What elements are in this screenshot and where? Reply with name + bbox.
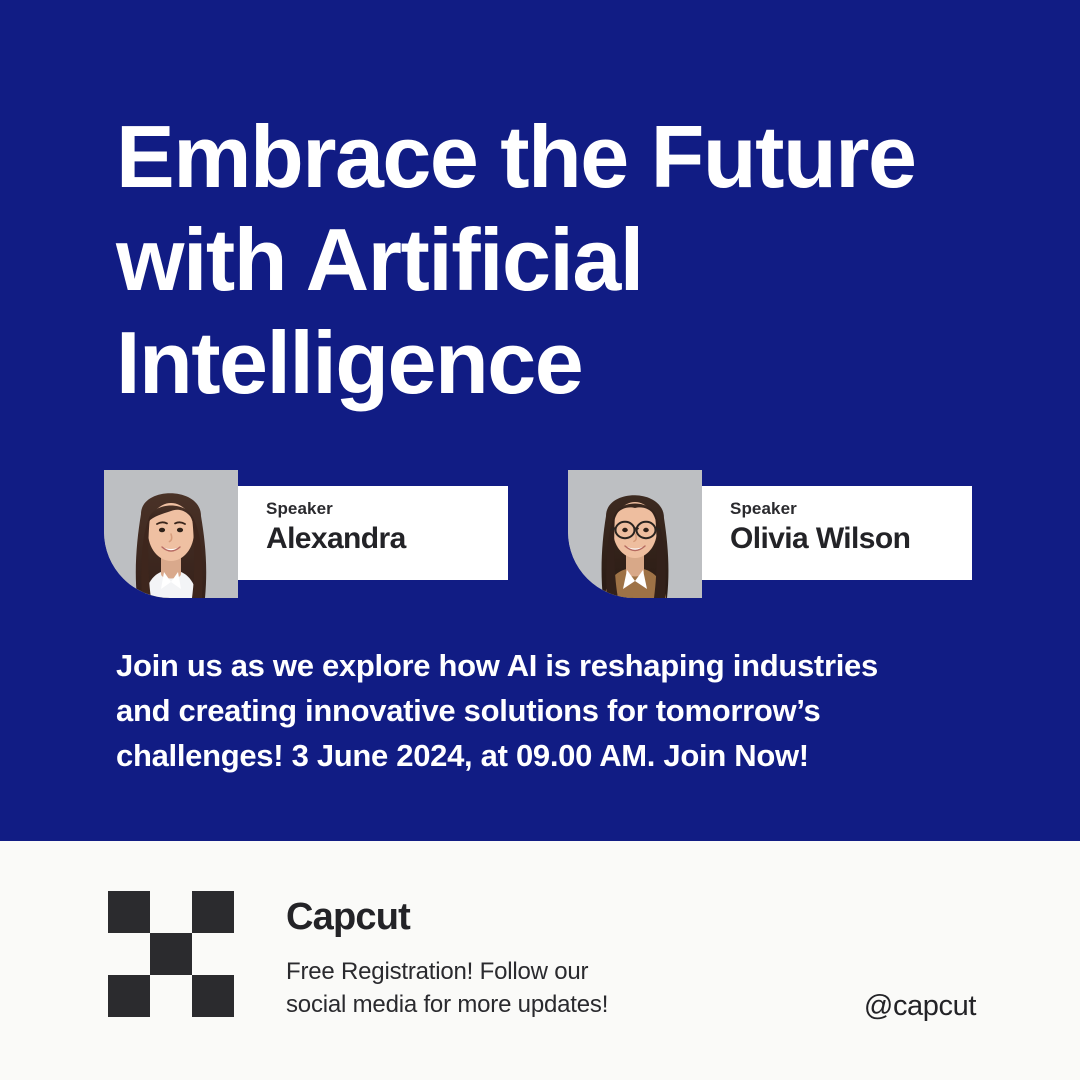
speaker-list: Speaker Alexandra	[104, 470, 984, 600]
page-title: Embrace the Future with Artificial Intel…	[116, 105, 1016, 414]
headline-line-2: with Artificial	[116, 208, 1016, 311]
speaker-role-label: Speaker	[266, 499, 508, 519]
hero-panel: Embrace the Future with Artificial Intel…	[0, 0, 1080, 841]
logo-cell-3	[192, 891, 234, 933]
avatar-alexandra	[104, 470, 238, 598]
event-description: Join us as we explore how AI is reshapin…	[116, 643, 1016, 778]
brand-block: Capcut Free Registration! Follow our soc…	[286, 893, 726, 1021]
checkerboard-x-logo-icon	[108, 891, 234, 1017]
logo-cell-9	[192, 975, 234, 1017]
headline-line-1: Embrace the Future	[116, 105, 1016, 208]
speaker-nameplate-olivia-wilson: Speaker Olivia Wilson	[702, 486, 972, 580]
speaker-name: Olivia Wilson	[730, 519, 972, 559]
logo-cell-7	[108, 975, 150, 1017]
logo-cell-2	[150, 891, 192, 933]
body-line-1: Join us as we explore how AI is reshapin…	[116, 643, 1016, 688]
body-line-3: challenges! 3 June 2024, at 09.00 AM. Jo…	[116, 733, 1016, 778]
headline-line-3: Intelligence	[116, 311, 1016, 414]
body-line-2: and creating innovative solutions for to…	[116, 688, 1016, 733]
logo-cell-6	[192, 933, 234, 975]
speaker-card-alexandra[interactable]: Speaker Alexandra	[104, 470, 508, 600]
tagline-line-1: Free Registration! Follow our	[286, 955, 726, 988]
tagline-line-2: social media for more updates!	[286, 988, 726, 1021]
speaker-card-olivia-wilson[interactable]: Speaker Olivia Wilson	[568, 470, 972, 600]
avatar-olivia-wilson	[568, 470, 702, 598]
logo-cell-5	[150, 933, 192, 975]
speaker-name: Alexandra	[266, 519, 508, 559]
logo-cell-4	[108, 933, 150, 975]
speaker-role-label: Speaker	[730, 499, 972, 519]
logo-cell-1	[108, 891, 150, 933]
brand-tagline: Free Registration! Follow our social med…	[286, 955, 726, 1021]
social-handle[interactable]: @capcut	[864, 988, 976, 1024]
logo-cell-8	[150, 975, 192, 1017]
event-poster: Embrace the Future with Artificial Intel…	[0, 0, 1080, 1080]
speaker-nameplate-alexandra: Speaker Alexandra	[238, 486, 508, 580]
brand-name: Capcut	[286, 893, 726, 941]
